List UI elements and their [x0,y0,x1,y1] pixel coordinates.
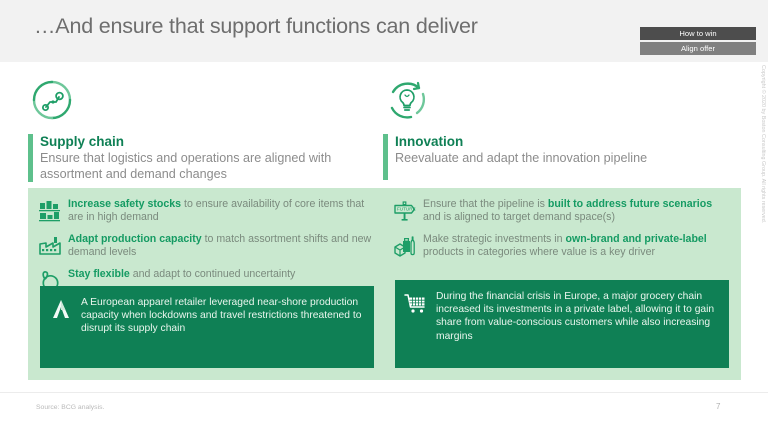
footer-divider [0,392,768,393]
slide: …And ensure that support functions can d… [0,0,768,434]
factory-icon [38,234,62,258]
badge-group: How to win Align offer [640,27,756,56]
column-subheading: Ensure that logistics and operations are… [40,151,386,182]
list-item-text: Ensure that the pipeline is built to add… [423,198,731,225]
list-item-text: Adapt production capacity to match assor… [68,233,376,260]
shopping-cart-icon [403,291,429,317]
list-item-pre: Make strategic investments in [423,233,565,245]
badge-how-to-win[interactable]: How to win [640,27,756,40]
list-item-rest: and adapt to continued uncertainty [130,268,296,280]
inventory-boxes-icon [38,199,62,223]
list-item: Adapt production capacity to match assor… [38,233,376,260]
bullet-list: FUTURE Ensure that the pipeline is built… [383,188,741,260]
network-nodes-circle-icon [30,78,74,122]
column-heading: Innovation [395,134,741,150]
lightbulb-refresh-circle-icon [385,78,429,122]
list-item-text: Stay flexible and adapt to continued unc… [68,268,376,281]
private-label-products-icon [393,234,417,258]
column-heading: Supply chain [40,134,386,150]
apparel-hanger-icon [48,297,74,323]
callout-text: During the financial crisis in Europe, a… [436,290,719,343]
slide-header: …And ensure that support functions can d… [0,0,768,62]
callout-box: During the financial crisis in Europe, a… [395,280,729,368]
list-item-pre: Ensure that the pipeline is [423,198,548,210]
copyright-notice: Copyright © 2020 by Boston Consulting Gr… [760,65,766,225]
badge-align-offer[interactable]: Align offer [640,42,756,55]
list-item-rest: and is aligned to target demand space(s) [423,211,615,223]
column-subheading: Reevaluate and adapt the innovation pipe… [395,151,741,167]
list-item-emphasis: Increase safety stocks [68,198,181,210]
list-item-emphasis: built to address future scenarios [548,198,712,210]
page-title: …And ensure that support functions can d… [34,14,478,39]
list-item-text: Make strategic investments in own-brand … [423,233,731,260]
innovation-heading-block: Innovation Reevaluate and adapt the inno… [383,134,741,180]
source-note: Source: BCG analysis. [36,404,104,411]
list-item: Make strategic investments in own-brand … [393,233,731,260]
callout-box: A European apparel retailer leveraged ne… [40,286,374,368]
future-signpost-icon: FUTURE [393,199,417,223]
page-number: 7 [716,402,720,411]
list-item: Increase safety stocks to ensure availab… [38,198,376,225]
supply-chain-heading-block: Supply chain Ensure that logistics and o… [28,134,386,182]
column-innovation: Innovation Reevaluate and adapt the inno… [383,78,741,180]
bullet-list: Increase safety stocks to ensure availab… [28,188,386,293]
list-item: FUTURE Ensure that the pipeline is built… [393,198,731,225]
list-item-emphasis: Adapt production capacity [68,233,202,245]
list-item-emphasis: own-brand and private-label [565,233,706,245]
list-item-emphasis: Stay flexible [68,268,130,280]
column-supply-chain: Supply chain Ensure that logistics and o… [28,78,386,182]
panel-supply-chain: Increase safety stocks to ensure availab… [28,188,386,380]
panel-innovation: FUTURE Ensure that the pipeline is built… [383,188,741,380]
accent-bar [383,134,388,180]
list-item-rest: products in categories where value is a … [423,246,655,258]
callout-text: A European apparel retailer leveraged ne… [81,296,364,336]
svg-text:FUTURE: FUTURE [397,207,416,212]
accent-bar [28,134,33,182]
list-item-text: Increase safety stocks to ensure availab… [68,198,376,225]
